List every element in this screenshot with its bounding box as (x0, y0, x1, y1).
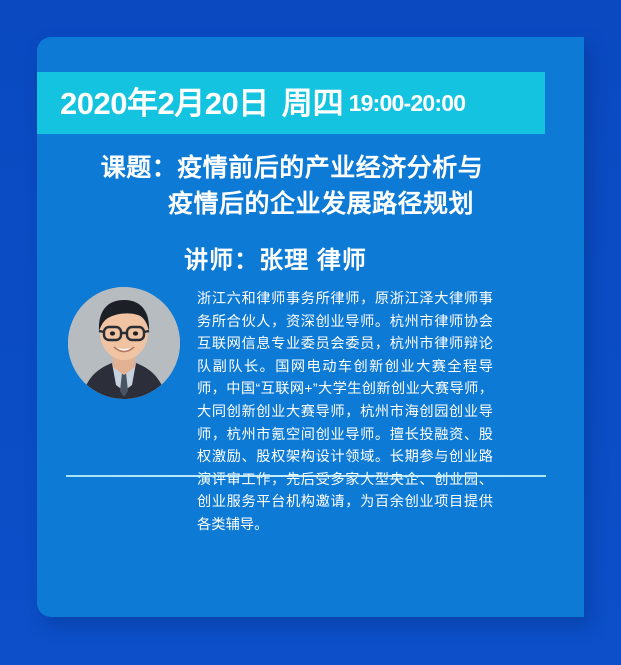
lecturer-bio: 浙江六和律师事务所律师，原浙江泽大律师事务所合伙人，资深创业导师。杭州市律师协会… (197, 288, 493, 537)
avatar-portrait-icon (68, 287, 180, 399)
avatar (68, 287, 180, 399)
event-date: 2020年2月20日 (60, 88, 269, 119)
lecturer-label: 讲师：张理 律师 (37, 240, 584, 275)
title-line-2: 疫情后的企业发展路径规划 (37, 186, 547, 222)
title-line-1: 课题：疫情前后的产业经济分析与 (37, 150, 547, 186)
event-time-range: 19:00-20:00 (349, 92, 466, 115)
page-title: 课题：疫情前后的产业经济分析与 疫情后的企业发展路径规划 (37, 150, 584, 222)
event-weekday: 周四 (282, 88, 344, 119)
date-band: 2020年2月20日 周四 19:00-20:00 (37, 72, 545, 134)
section-divider (66, 475, 546, 477)
poster-root: 2020年2月20日 周四 19:00-20:00 课题：疫情前后的产业经济分析… (0, 0, 621, 665)
